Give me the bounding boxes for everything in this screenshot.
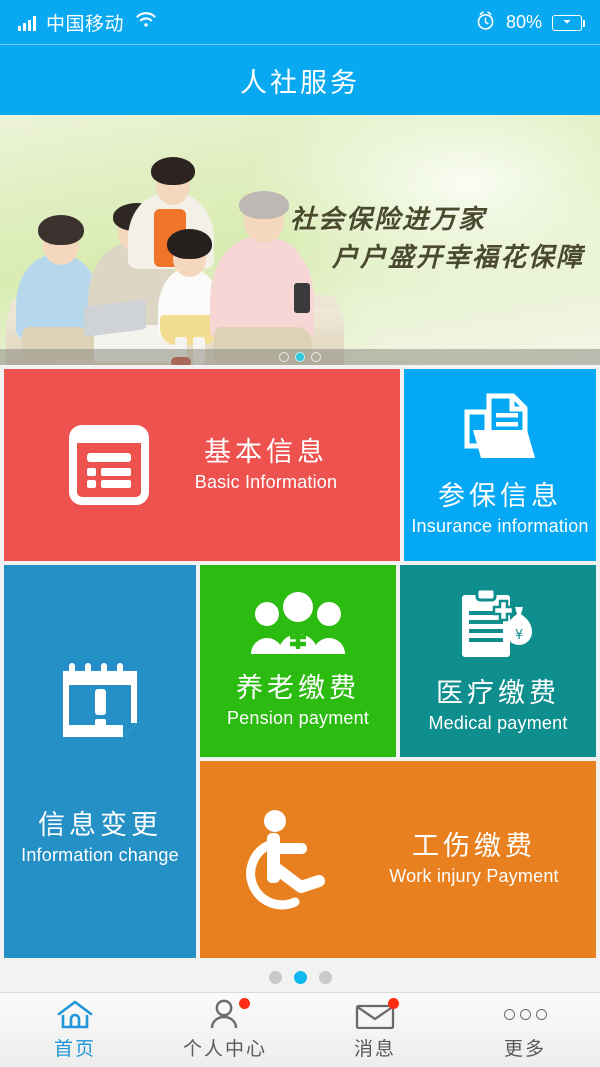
messages-badge [388,998,399,1009]
tile-label-cn: 基本信息 [204,436,328,470]
tab-profile-label: 个人中心 [183,1034,267,1061]
banner-dots[interactable] [0,349,600,365]
page-dot-1[interactable] [269,971,282,984]
tile-work-injury-payment[interactable]: 工伤缴费 Work injury Payment [200,761,596,958]
tab-more[interactable]: 更多 [450,993,600,1067]
tile-label-cn: 信息变更 [38,809,162,843]
signal-bars-icon [18,15,36,31]
banner-dot-2-active[interactable] [295,352,305,362]
tile-work-injury-payment-labels: 工伤缴费 Work injury Payment [389,830,559,888]
banner-dot-3[interactable] [311,352,321,362]
carrier-label: 中国移动 [46,9,124,36]
app-header: 人社服务 [0,45,600,115]
tile-information-change[interactable]: 信息变更 Information change [4,565,196,958]
banner-carousel[interactable]: 社会保险进万家 户户盛开幸福花保障 [0,115,600,365]
svg-text:¥: ¥ [515,628,523,643]
tile-insurance-information-labels: 参保信息 Insurance information [411,480,588,538]
tab-profile[interactable]: 个人中心 [150,993,300,1067]
tile-pension-payment[interactable]: 养老缴费 Pension payment [200,565,396,757]
tile-pension-payment-labels: 养老缴费 Pension payment [227,672,369,730]
tab-home-label: 首页 [54,1034,96,1061]
profile-badge [239,998,250,1009]
tile-label-cn: 参保信息 [438,480,562,514]
tab-more-label: 更多 [504,1034,546,1061]
battery-charging-icon: ⏷ [552,15,582,31]
tile-label-en: Work injury Payment [389,864,559,888]
alarm-clock-icon [475,10,496,36]
tile-label-en: Basic Information [195,470,337,494]
home-icon [56,999,94,1029]
tab-messages[interactable]: 消息 [300,993,450,1067]
tile-label-en: Medical payment [428,711,567,735]
status-bar-left: 中国移动 [18,9,158,36]
tile-label-en: Insurance information [411,514,588,538]
tile-basic-information-labels: 基本信息 Basic Information [195,436,337,494]
bottom-tab-bar: 首页 个人中心 消息 更多 [0,992,600,1067]
banner-line-1: 社会保险进万家 [290,201,584,239]
tile-label-cn: 医疗缴费 [436,677,560,711]
tab-home[interactable]: 首页 [0,993,150,1067]
clipboard-moneybag-icon: ¥ [456,587,540,661]
grid-page-indicator[interactable] [0,962,600,992]
tile-medical-payment[interactable]: ¥ 医疗缴费 Medical payment [400,565,596,757]
status-bar: 中国移动 80% ⏷ [0,0,600,45]
page-dot-2-active[interactable] [294,971,307,984]
status-bar-right: 80% ⏷ [475,10,582,36]
banner-text: 社会保险进万家 户户盛开幸福花保障 [290,201,584,276]
service-tile-grid: 基本信息 Basic Information 参保信息 Insurance in… [0,365,600,962]
tile-information-change-labels: 信息变更 Information change [21,809,179,867]
wifi-icon [134,11,158,34]
tile-basic-information[interactable]: 基本信息 Basic Information [4,369,400,561]
people-yen-icon [249,592,347,656]
list-document-icon [67,423,151,507]
more-dots-icon [504,999,547,1029]
tile-label-en: Information change [21,843,179,867]
banner-dot-1[interactable] [279,352,289,362]
tile-insurance-information[interactable]: 参保信息 Insurance information [404,369,596,561]
tile-label-cn: 工伤缴费 [412,830,536,864]
battery-percent-label: 80% [506,12,542,33]
tile-label-cn: 养老缴费 [236,672,360,706]
tile-label-en: Pension payment [227,706,369,730]
page-dot-3[interactable] [319,971,332,984]
page-title: 人社服务 [240,61,360,100]
folder-document-icon [463,392,537,464]
wheelchair-icon [237,809,341,911]
tile-medical-payment-labels: 医疗缴费 Medical payment [428,677,567,735]
banner-line-2: 户户盛开幸福花保障 [290,239,584,277]
envelope-icon [355,999,395,1029]
tab-messages-label: 消息 [354,1034,396,1061]
note-exclamation-icon [57,655,143,743]
person-icon [209,999,241,1029]
